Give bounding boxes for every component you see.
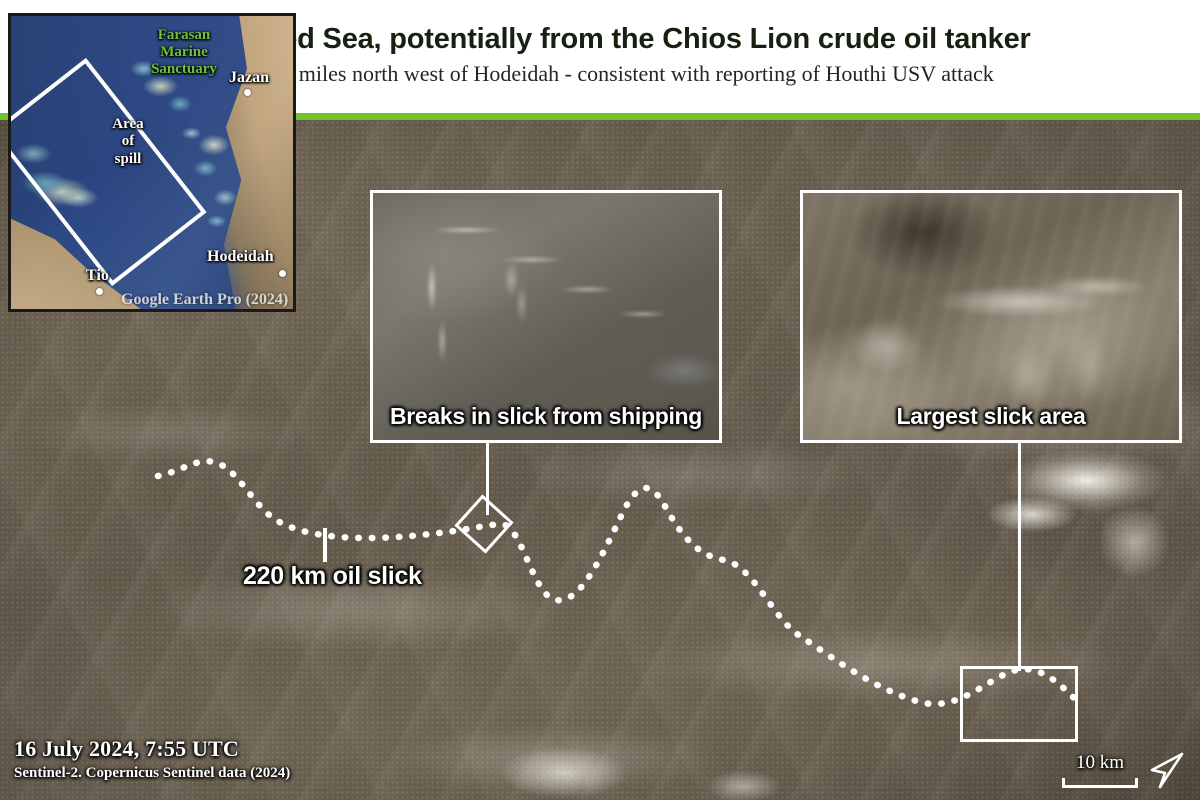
callout-panel-breaks: Breaks in slick from shipping — [370, 190, 722, 443]
scale-bar: 10 km — [1060, 752, 1140, 790]
callout-panel-largest: Largest slick area — [800, 190, 1182, 443]
locator-attribution: Google Earth Pro (2024) — [121, 291, 288, 309]
callout-label-breaks: Breaks in slick from shipping — [373, 403, 719, 430]
locator-inset-map: Farasan Marine Sanctuary Area of spill J… — [8, 13, 296, 312]
sanctuary-line-2: Marine — [129, 44, 239, 61]
sanctuary-line-3: Sanctuary — [129, 61, 239, 78]
area-of-spill-label: Area of spill — [97, 116, 159, 168]
sanctuary-line-1: Farasan — [129, 27, 239, 44]
place-dot-tio — [96, 288, 103, 295]
spill-line-2: of — [97, 133, 159, 150]
place-dot-jazan — [244, 89, 251, 96]
north-arrow-icon — [1148, 748, 1188, 792]
spill-line-3: spill — [97, 151, 159, 168]
place-dot-hodeidah — [279, 270, 286, 277]
credit-block: 16 July 2024, 7:55 UTC Sentinel-2. Coper… — [14, 736, 290, 782]
farasan-marine-sanctuary-label: Farasan Marine Sanctuary — [129, 27, 239, 77]
marker-rect-largest — [960, 666, 1078, 742]
spill-line-1: Area — [97, 116, 159, 133]
capture-timestamp: 16 July 2024, 7:55 UTC — [14, 736, 290, 762]
place-label-hodeidah: Hodeidah — [207, 248, 274, 266]
leader-line-largest — [1018, 443, 1021, 671]
leader-line-slick-length — [323, 528, 327, 562]
place-label-jazan: Jazan — [229, 69, 269, 87]
north-arrow-shape — [1152, 754, 1182, 787]
scale-bar-label: 10 km — [1060, 752, 1140, 774]
scale-bar-bracket — [1062, 778, 1138, 788]
infographic-root: CEOBS Oil slick in Red Sea, potentially … — [0, 0, 1200, 800]
data-source: Sentinel-2. Copernicus Sentinel data (20… — [14, 765, 290, 782]
callout-label-largest: Largest slick area — [803, 403, 1179, 430]
place-label-tio: Tio — [86, 267, 109, 285]
slick-length-label: 220 km oil slick — [243, 562, 422, 591]
